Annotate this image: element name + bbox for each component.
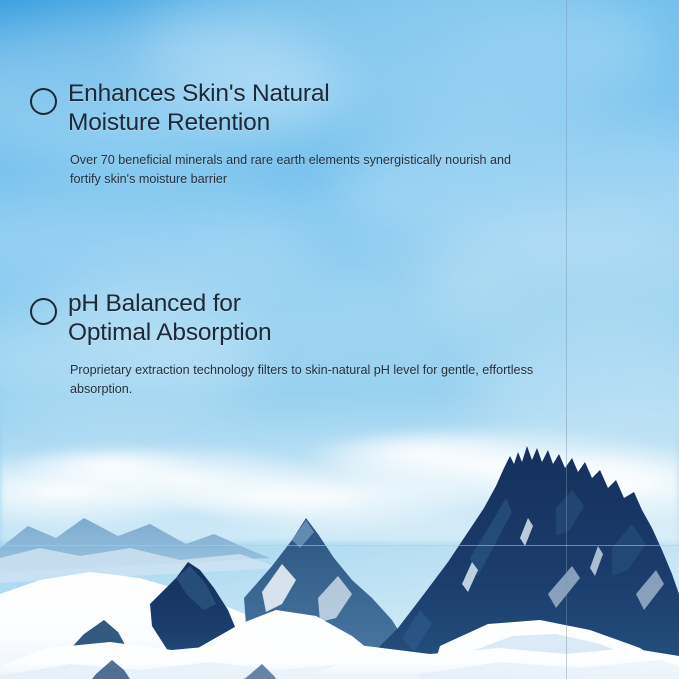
feature-item-moisture-retention: Enhances Skin's Natural Moisture Retenti… [0,80,560,189]
feature-text-block: pH Balanced for Optimal Absorption Propr… [68,290,560,399]
feature-text-block: Enhances Skin's Natural Moisture Retenti… [68,80,560,189]
feature-description: Over 70 beneficial minerals and rare ear… [70,151,538,189]
feature-item-ph-balanced: pH Balanced for Optimal Absorption Propr… [0,290,560,399]
benefits-content: Enhances Skin's Natural Moisture Retenti… [0,0,679,679]
product-benefits-panel: Enhances Skin's Natural Moisture Retenti… [0,0,679,679]
circle-outline-icon [30,88,57,115]
circle-outline-icon [30,298,57,325]
feature-heading: pH Balanced for Optimal Absorption [68,290,560,348]
feature-description: Proprietary extraction technology filter… [70,361,538,399]
feature-heading: Enhances Skin's Natural Moisture Retenti… [68,80,560,138]
